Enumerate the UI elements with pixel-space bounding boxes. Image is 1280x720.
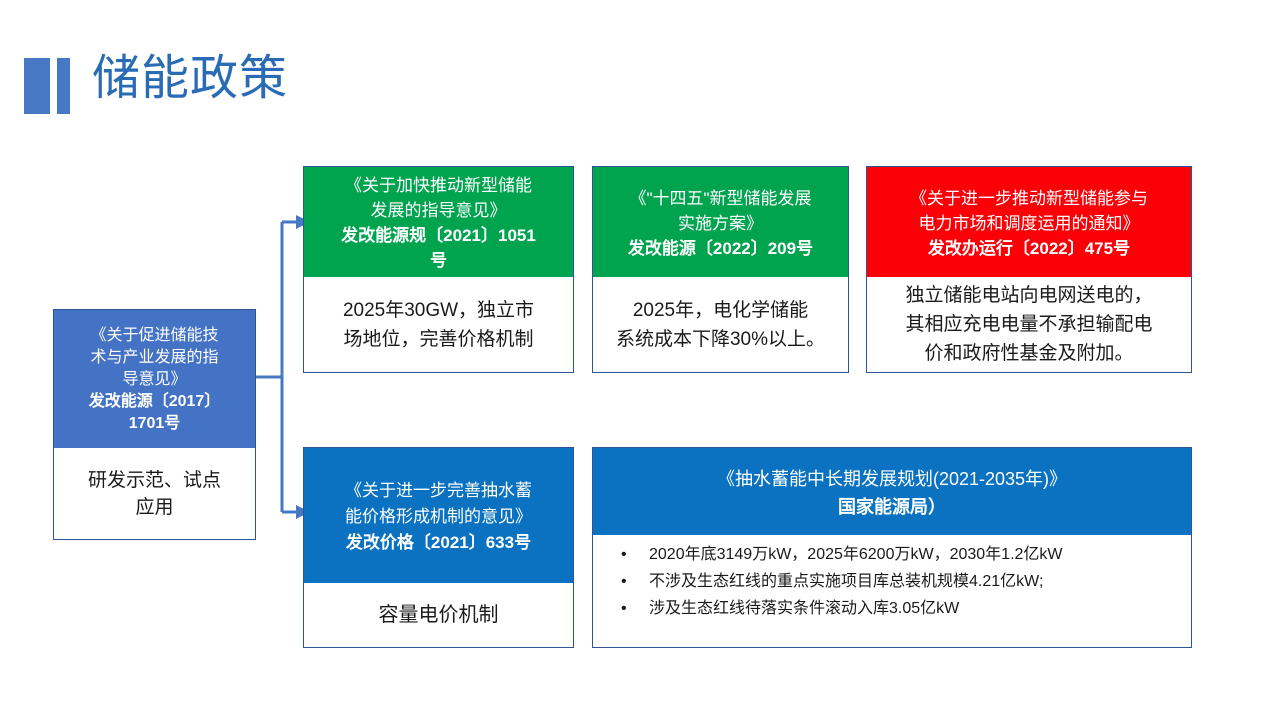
card-blue-pumped-storage-price-2021[interactable]: 《关于进一步完善抽水蓄 能价格形成机制的意见》 发改价格〔2021〕633号 容… <box>303 447 574 648</box>
card-red-title-line-2: 电力市场和调度运用的通知》 <box>873 211 1185 236</box>
card-red-title-line-1: 《关于进一步推动新型储能参与 <box>873 186 1185 211</box>
card-green-145-plan-2022[interactable]: 《"十四五"新型储能发展 实施方案》 发改能源〔2022〕209号 2025年，… <box>592 166 849 373</box>
card-root-title-line-1: 《关于促进储能技 <box>58 325 251 347</box>
card-green-1-header: 《关于加快推动新型储能 发展的指导意见》 发改能源规〔2021〕1051 号 <box>304 167 573 277</box>
slide-title-bar: 储能政策 <box>0 0 1280 140</box>
title-accent-bar-wide <box>24 58 50 114</box>
card-root-header: 《关于促进储能技 术与产业发展的指 导意见》 发改能源〔2017〕 1701号 <box>54 310 255 448</box>
card-green-2-title-line-1: 《"十四五"新型储能发展 <box>597 186 844 211</box>
card-green-2-body-line-2: 系统成本下降30%以上。 <box>601 325 840 354</box>
card-red-header: 《关于进一步推动新型储能参与 电力市场和调度运用的通知》 发改办运行〔2022〕… <box>867 167 1191 277</box>
card-root-body-line-2: 应用 <box>58 494 251 521</box>
card-root-policy[interactable]: 《关于促进储能技 术与产业发展的指 导意见》 发改能源〔2017〕 1701号 … <box>53 309 256 540</box>
card-blue-1-body-line-1: 容量电价机制 <box>310 601 567 629</box>
card-root-body: 研发示范、试点 应用 <box>54 448 255 539</box>
list-item: 涉及生态红线待落实条件滚动入库3.05亿kW <box>593 595 1191 622</box>
card-blue-1-title-line-1: 《关于进一步完善抽水蓄 <box>310 478 567 504</box>
card-green-1-body: 2025年30GW，独立市 场地位，完善价格机制 <box>304 277 573 372</box>
card-blue-2-title-line-1: 《抽水蓄能中长期发展规划(2021-2035年)》 <box>599 465 1185 493</box>
card-green-2-body: 2025年，电化学储能 系统成本下降30%以上。 <box>593 277 848 372</box>
card-blue-1-title-line-2: 能价格形成机制的意见》 <box>310 504 567 530</box>
card-root-title-line-3: 导意见》 <box>58 369 251 391</box>
card-red-body-line-3: 价和政府性基金及附加。 <box>873 339 1185 368</box>
card-blue-2-body: 2020年底3149万kW，2025年6200万kW，2030年1.2亿kW 不… <box>593 535 1191 647</box>
card-green-1-title-line-2: 发展的指导意见》 <box>308 198 569 223</box>
card-red-body: 独立储能电站向电网送电的， 其相应充电电量不承担输配电 价和政府性基金及附加。 <box>867 277 1191 372</box>
card-red-market-notice-2022[interactable]: 《关于进一步推动新型储能参与 电力市场和调度运用的通知》 发改办运行〔2022〕… <box>866 166 1192 373</box>
card-green-2-title-line-2: 实施方案》 <box>597 211 844 236</box>
card-green-2-docno-line-1: 发改能源〔2022〕209号 <box>597 236 844 261</box>
card-blue-1-header: 《关于进一步完善抽水蓄 能价格形成机制的意见》 发改价格〔2021〕633号 <box>304 448 573 583</box>
card-green-2-body-line-1: 2025年，电化学储能 <box>601 296 840 325</box>
list-item: 2020年底3149万kW，2025年6200万kW，2030年1.2亿kW <box>593 541 1191 568</box>
card-blue-2-docno-line-1: 国家能源局） <box>599 493 1185 521</box>
card-blue-2-bullet-list: 2020年底3149万kW，2025年6200万kW，2030年1.2亿kW 不… <box>593 541 1191 622</box>
card-red-docno-line-1: 发改办运行〔2022〕475号 <box>873 236 1185 261</box>
card-blue-1-docno-line-1: 发改价格〔2021〕633号 <box>310 530 567 556</box>
card-root-docno-line-2: 1701号 <box>58 413 251 435</box>
page-title: 储能政策 <box>92 48 288 110</box>
card-root-title-line-2: 术与产业发展的指 <box>58 347 251 369</box>
card-green-2-header: 《"十四五"新型储能发展 实施方案》 发改能源〔2022〕209号 <box>593 167 848 277</box>
card-red-body-line-1: 独立储能电站向电网送电的， <box>873 281 1185 310</box>
card-green-1-body-line-1: 2025年30GW，独立市 <box>312 296 565 325</box>
card-green-guidance-2021[interactable]: 《关于加快推动新型储能 发展的指导意见》 发改能源规〔2021〕1051 号 2… <box>303 166 574 373</box>
card-blue-1-body: 容量电价机制 <box>304 583 573 647</box>
list-item: 不涉及生态红线的重点实施项目库总装机规模4.21亿kW; <box>593 568 1191 595</box>
card-green-1-docno-line-1: 发改能源规〔2021〕1051 <box>308 223 569 248</box>
card-green-1-title-line-1: 《关于加快推动新型储能 <box>308 173 569 198</box>
card-root-body-line-1: 研发示范、试点 <box>58 467 251 494</box>
title-accent-bar-narrow <box>57 58 70 114</box>
card-red-body-line-2: 其相应充电电量不承担输配电 <box>873 310 1185 339</box>
card-blue-2-header: 《抽水蓄能中长期发展规划(2021-2035年)》 国家能源局） <box>593 448 1191 535</box>
card-green-1-body-line-2: 场地位，完善价格机制 <box>312 325 565 354</box>
card-blue-pumped-storage-longterm-plan[interactable]: 《抽水蓄能中长期发展规划(2021-2035年)》 国家能源局） 2020年底3… <box>592 447 1192 648</box>
card-root-docno-line-1: 发改能源〔2017〕 <box>58 391 251 413</box>
card-green-1-docno-line-2: 号 <box>308 248 569 273</box>
